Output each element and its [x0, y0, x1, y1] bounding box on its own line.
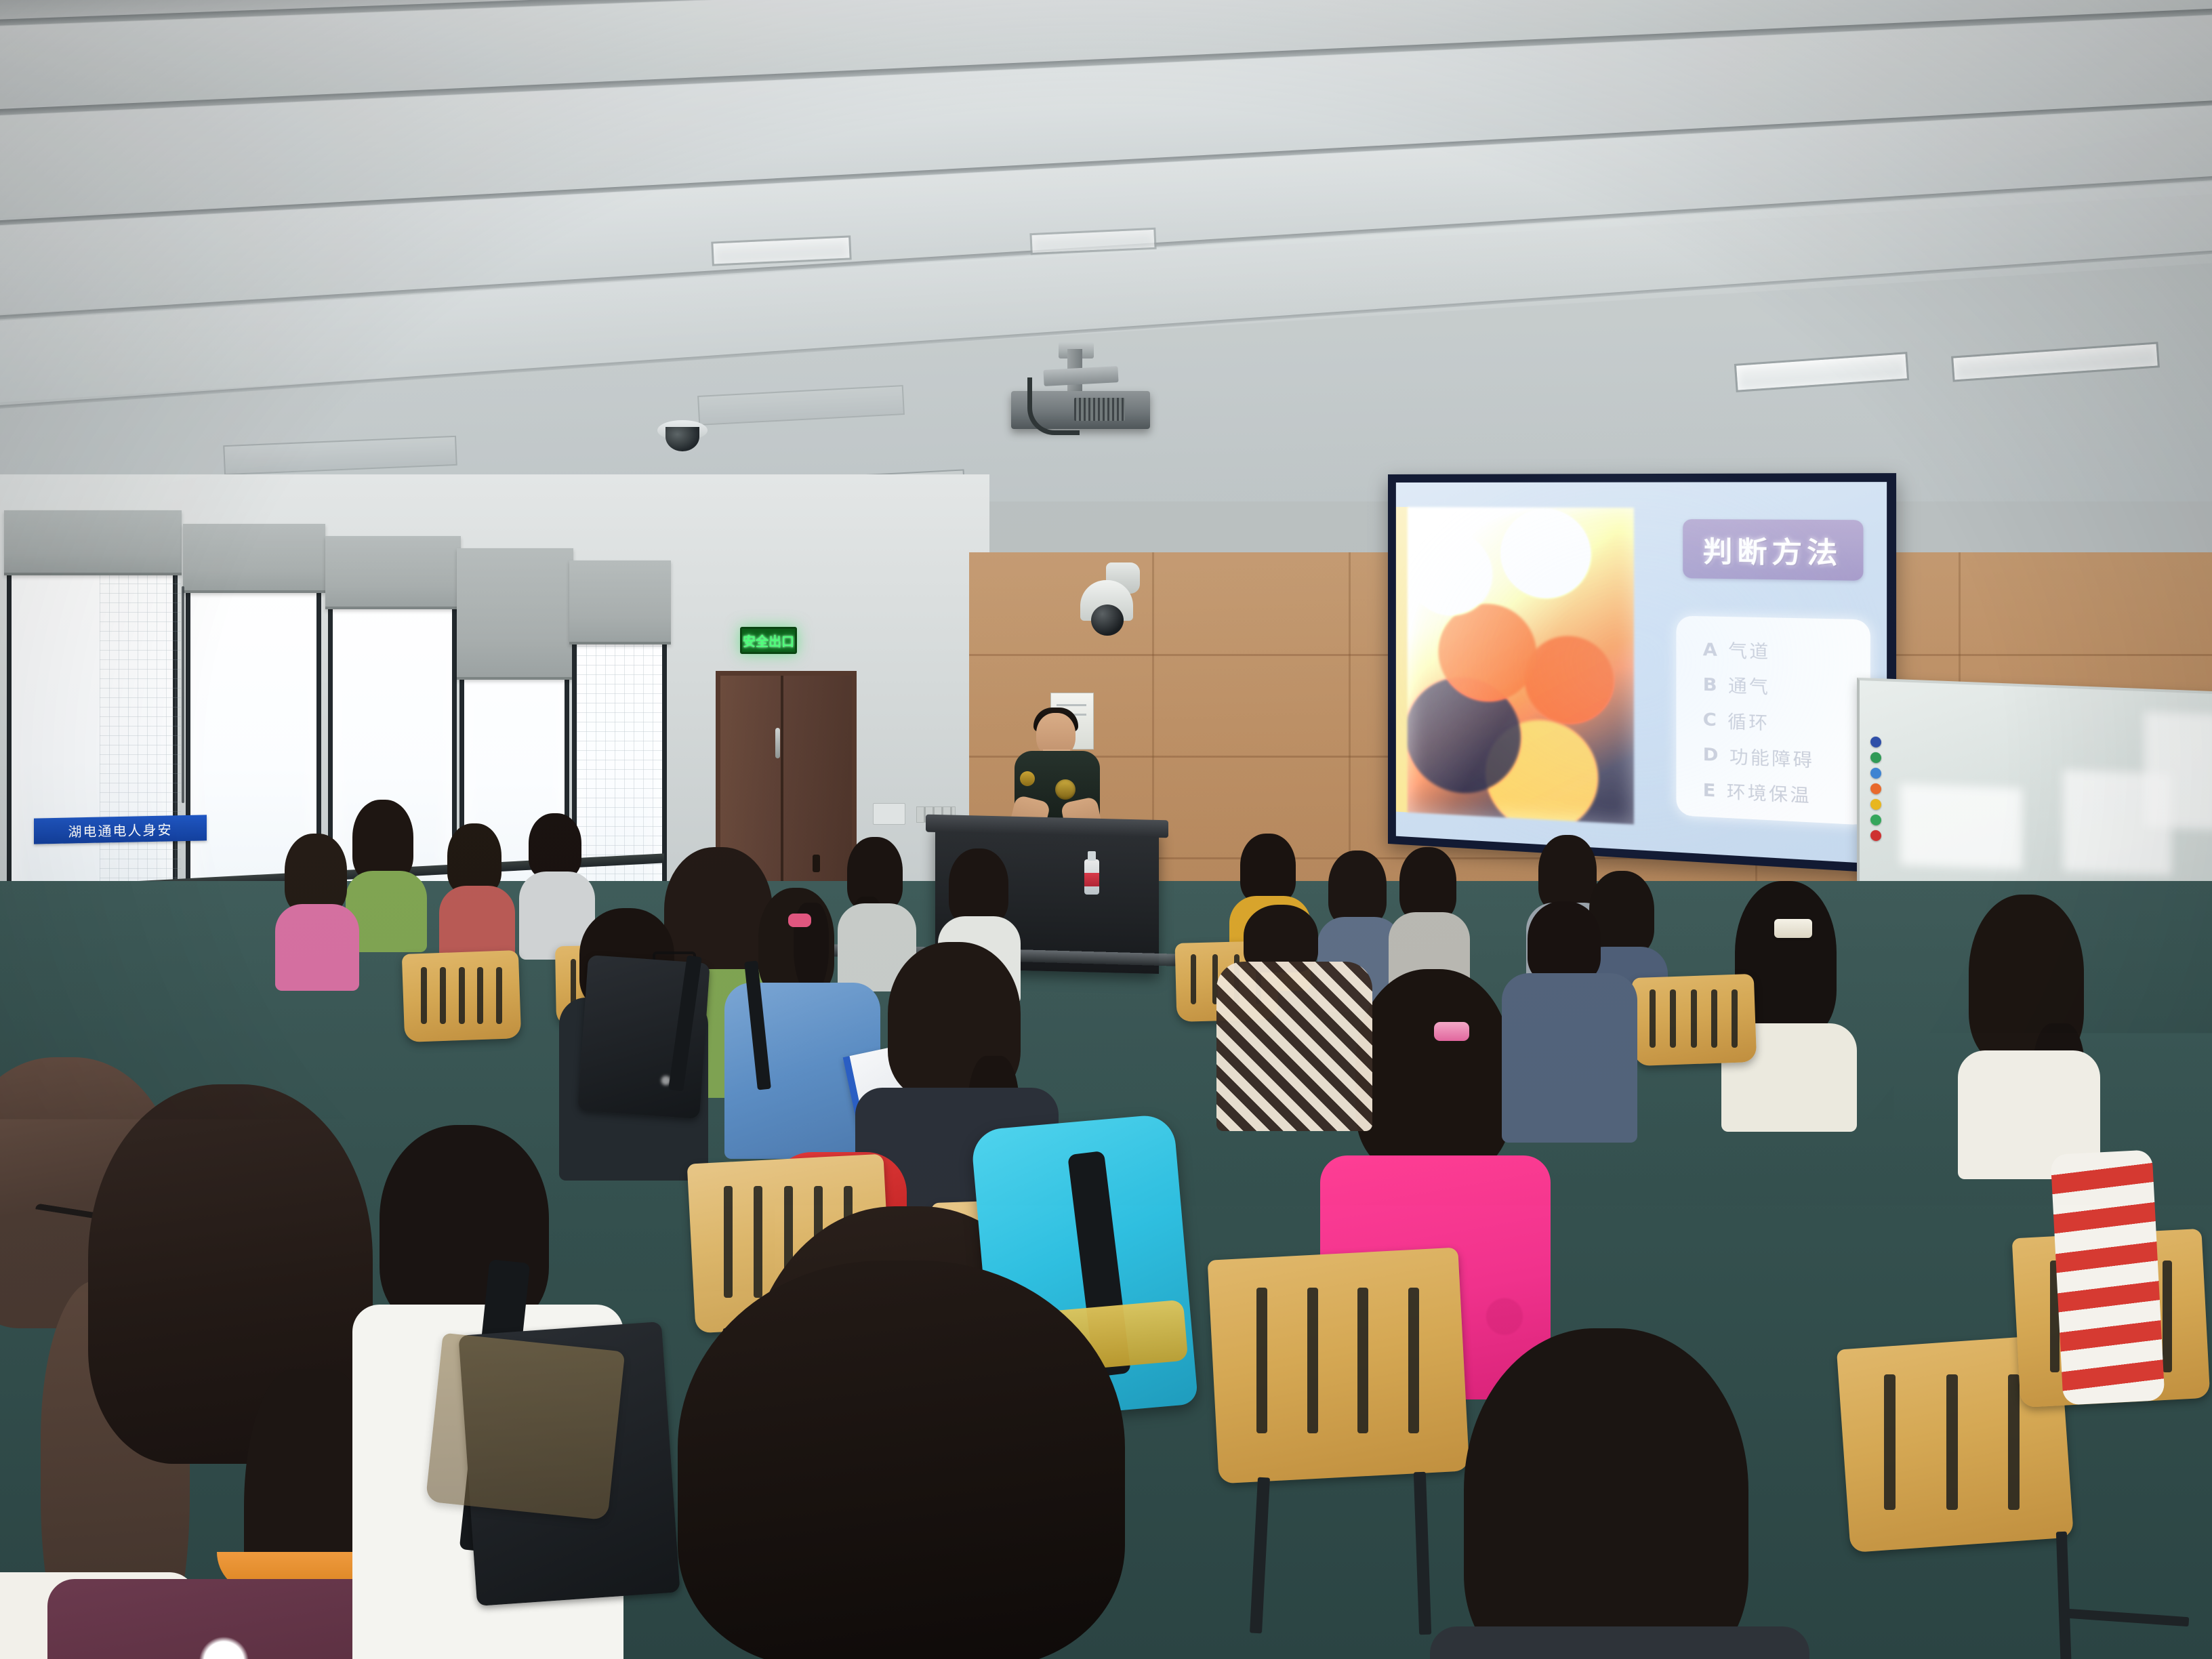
outdoor-banner-label: 湖电通电人身安 [68, 819, 173, 840]
striped-garment [2050, 1149, 2165, 1405]
slide-title-banner: 判断方法 [1683, 519, 1863, 581]
outdoor-banner: 湖电通电人身安 [34, 815, 207, 844]
door-knob[interactable] [813, 855, 820, 872]
hair-tie-icon [788, 914, 811, 927]
hvac-vent [697, 385, 905, 426]
slide: 判断方法 A 气道 B 通气 C 循环 D [1396, 482, 1887, 864]
projection-screen: 判断方法 A 气道 B 通气 C 循环 D [1388, 473, 1896, 874]
magnet[interactable] [1870, 783, 1881, 795]
chest-badge-icon [1055, 779, 1076, 800]
window-blind[interactable] [183, 524, 325, 593]
slide-list-item: B 通气 [1677, 666, 1870, 708]
exit-sign: 安全出口 [740, 627, 797, 654]
hair-clip-icon [1434, 1022, 1469, 1041]
slide-list-card: A 气道 B 通气 C 循环 D 功能障碍 [1677, 615, 1870, 825]
ceiling-projector [1003, 342, 1159, 437]
exit-sign-label: 安全出口 [743, 632, 794, 650]
window-blind[interactable] [569, 560, 671, 644]
door-handle[interactable] [775, 728, 780, 758]
water-bottle [1084, 851, 1099, 895]
window-blind[interactable] [4, 510, 182, 575]
magnet[interactable] [1870, 815, 1881, 826]
lecture-hall-photo: 安全出口 湖电通电人身安 [0, 0, 2212, 1659]
magnet[interactable] [1870, 737, 1881, 748]
whiteboard [1857, 678, 2212, 915]
magnet[interactable] [1870, 768, 1881, 779]
hair-bow-clip-icon [1774, 919, 1812, 938]
slide-list-item: E 环境保温 [1677, 771, 1870, 816]
hvac-vent [223, 436, 457, 475]
ptz-camera-icon [1076, 557, 1141, 638]
sleeve-patch-icon [1020, 771, 1035, 786]
magnet[interactable] [1870, 799, 1881, 811]
ceiling-dome-camera-icon [657, 420, 708, 454]
ceiling-light [1734, 352, 1909, 392]
window-blind[interactable] [325, 536, 461, 609]
ceiling-light [1951, 342, 2160, 382]
slide-photo [1408, 508, 1635, 824]
window-pane [7, 551, 178, 930]
magnet[interactable] [1870, 830, 1881, 842]
slide-title-text: 判断方法 [1703, 529, 1843, 572]
slide-list-item: A 气道 [1677, 631, 1870, 672]
window-blind[interactable] [457, 548, 573, 680]
light-switch[interactable] [873, 803, 905, 825]
magnet[interactable] [1870, 752, 1881, 764]
whiteboard-magnets[interactable] [1870, 737, 1881, 846]
slide-text-column: 判断方法 A 气道 B 通气 C 循环 D [1656, 482, 1887, 864]
